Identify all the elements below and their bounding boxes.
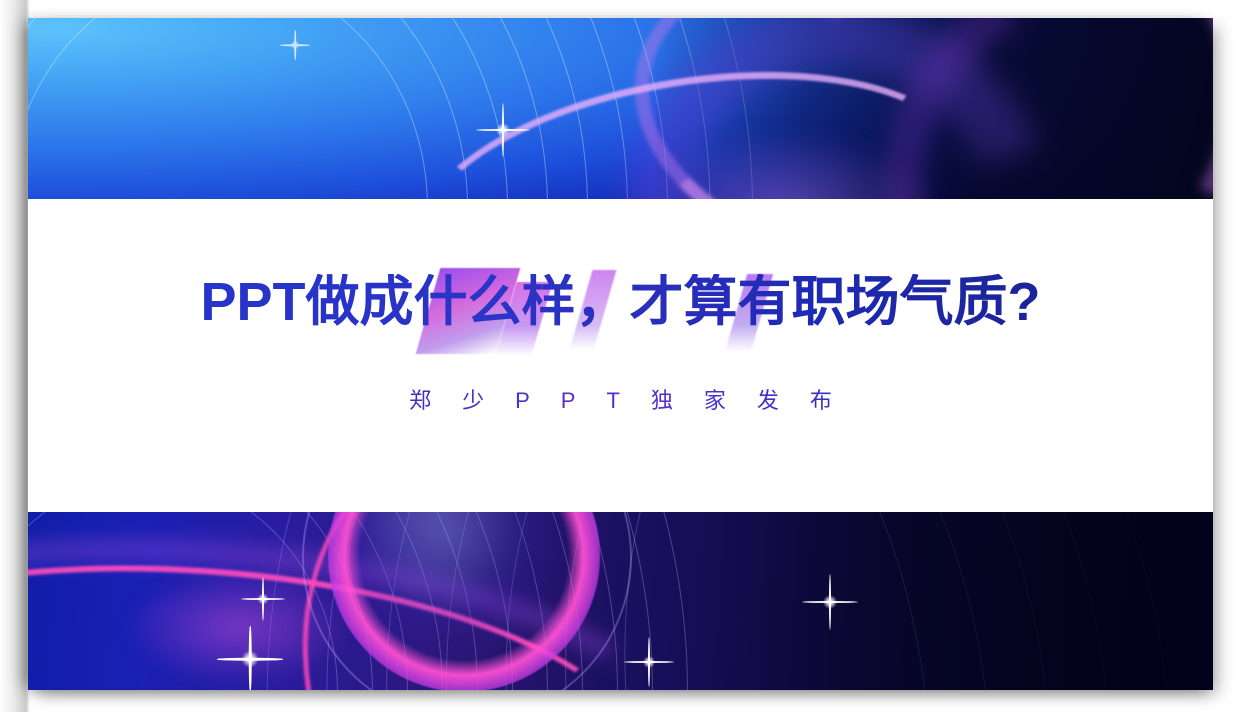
bottom-right-fade-overlay xyxy=(715,512,1213,690)
slide-title: PPT做成什么样，才算有职场气质? xyxy=(200,274,1040,331)
slide-stage: PPT做成什么样，才算有职场气质? 郑少PPT独家发布 xyxy=(0,0,1240,712)
top-decoration-band xyxy=(28,18,1213,199)
slide-content-panel: PPT做成什么样，才算有职场气质? 郑少PPT独家发布 xyxy=(28,199,1213,512)
slide-subtitle: 郑少PPT独家发布 xyxy=(28,383,1213,415)
bottom-decoration-band xyxy=(28,512,1213,690)
top-violet-glow xyxy=(573,99,993,199)
presentation-slide: PPT做成什么样，才算有职场气质? 郑少PPT独家发布 xyxy=(28,18,1213,690)
title-block: PPT做成什么样，才算有职场气质? xyxy=(28,274,1213,331)
